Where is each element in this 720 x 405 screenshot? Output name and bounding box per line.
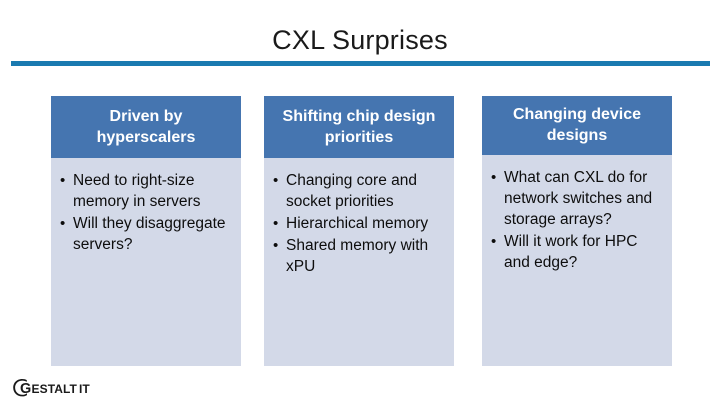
column-body-1: • Need to right-size memory in servers •… <box>51 158 241 366</box>
bullet-dot-icon: • <box>273 213 278 234</box>
list-item: • Changing core and socket priorities <box>270 170 444 212</box>
bullet-text: What can CXL do for network switches and… <box>504 169 652 228</box>
bullet-dot-icon: • <box>491 231 496 252</box>
list-item: • Hierarchical memory <box>270 213 444 234</box>
column-card-driven-by-hyperscalers: Driven by hyperscalers • Need to right-s… <box>51 96 241 366</box>
list-item: • Shared memory with xPU <box>270 235 444 277</box>
bullet-list-1: • Need to right-size memory in servers •… <box>57 170 231 255</box>
columns-container: Driven by hyperscalers • Need to right-s… <box>0 96 720 366</box>
column-header-3: Changing device designs <box>482 96 672 155</box>
column-card-shifting-chip-design-priorities: Shifting chip design priorities • Changi… <box>264 96 454 366</box>
bullet-text: Will they disaggregate servers? <box>73 215 226 253</box>
svg-text:ESTALT: ESTALT <box>32 382 78 396</box>
list-item: • Will they disaggregate servers? <box>57 213 231 255</box>
bullet-text: Will it work for HPC and edge? <box>504 233 637 271</box>
bullet-list-3: • What can CXL do for network switches a… <box>488 167 662 273</box>
bullet-dot-icon: • <box>273 235 278 256</box>
list-item: • Will it work for HPC and edge? <box>488 231 662 273</box>
bullet-text: Hierarchical memory <box>286 215 428 232</box>
svg-text:G: G <box>20 381 31 397</box>
bullet-dot-icon: • <box>273 170 278 191</box>
title-divider <box>11 61 710 66</box>
bullet-text: Changing core and socket priorities <box>286 172 417 210</box>
bullet-text: Need to right-size memory in servers <box>73 172 200 210</box>
list-item: • Need to right-size memory in servers <box>57 170 231 212</box>
svg-text:IT: IT <box>79 382 90 396</box>
list-item: • What can CXL do for network switches a… <box>488 167 662 230</box>
slide-canvas: CXL Surprises Driven by hyperscalers • N… <box>0 0 720 405</box>
column-header-2: Shifting chip design priorities <box>264 96 454 158</box>
bullet-dot-icon: • <box>60 170 65 191</box>
bullet-list-2: • Changing core and socket priorities • … <box>270 170 444 277</box>
gestalt-it-logo-icon: G ESTALT IT <box>12 378 108 398</box>
column-header-1: Driven by hyperscalers <box>51 96 241 158</box>
bullet-text: Shared memory with xPU <box>286 237 428 275</box>
bullet-dot-icon: • <box>60 213 65 234</box>
gestalt-it-logo: G ESTALT IT <box>12 378 108 398</box>
column-card-changing-device-designs: Changing device designs • What can CXL d… <box>482 96 672 366</box>
page-title: CXL Surprises <box>0 23 720 57</box>
column-body-3: • What can CXL do for network switches a… <box>482 155 672 366</box>
column-body-2: • Changing core and socket priorities • … <box>264 158 454 366</box>
bullet-dot-icon: • <box>491 167 496 188</box>
